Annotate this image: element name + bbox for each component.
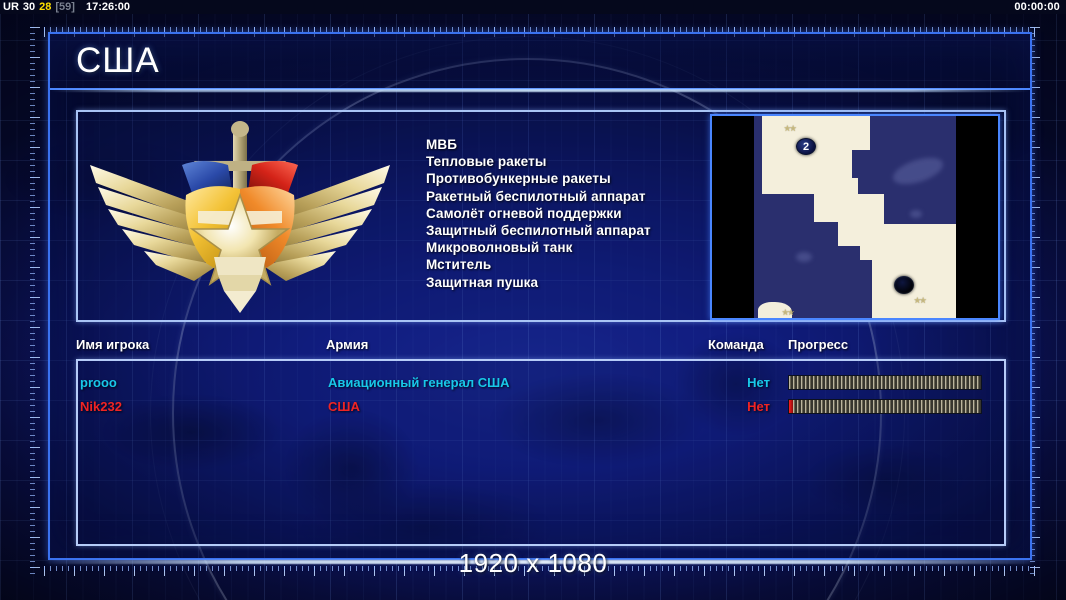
status-value-2: 28	[39, 1, 51, 13]
player-team: Нет	[710, 375, 788, 390]
player-army: США	[328, 399, 710, 414]
progress-fill	[789, 376, 981, 389]
player-army: Авиационный генерал США	[328, 375, 710, 390]
players-list-panel: prooo Авиационный генерал США Нет Nik232…	[76, 359, 1006, 546]
unit-item: Тепловые ракеты	[426, 153, 726, 170]
resolution-label: 1920 x 1080	[0, 548, 1066, 579]
unit-item: МВБ	[426, 136, 726, 153]
tail-feathers-shape	[214, 257, 266, 313]
status-right-clock: 00:00:00	[1014, 1, 1066, 13]
unit-item: Микроволновый танк	[426, 239, 726, 256]
minimap-start-position-2[interactable]: 2	[796, 138, 816, 155]
unit-item: Мститель	[426, 256, 726, 273]
star-marker-icon-3: ✯✯	[782, 308, 793, 317]
column-header-progress: Прогресс	[788, 337, 998, 359]
status-label: UR	[3, 1, 19, 13]
player-name: Nik232	[78, 399, 328, 414]
star-marker-icon-2: ✯✯	[914, 296, 925, 305]
usa-air-force-general-emblem-icon	[82, 113, 398, 317]
faction-info-panel: МВБ Тепловые ракеты Противобункерные рак…	[76, 110, 1006, 322]
page-title: США	[76, 41, 160, 81]
player-progress	[788, 399, 988, 414]
title-bar: США	[50, 34, 1030, 90]
main-panel: США	[48, 32, 1032, 560]
column-header-army: Армия	[326, 337, 708, 359]
faction-emblem	[82, 113, 398, 317]
status-bar-left: UR 30 28 [59] 17:26:00	[0, 1, 130, 13]
unit-item: Ракетный беспилотный аппарат	[426, 188, 726, 205]
column-header-name: Имя игрока	[76, 337, 326, 359]
faction-unit-list: МВБ Тепловые ракеты Противобункерные рак…	[426, 136, 726, 291]
unit-item: Защитный беспилотный аппарат	[426, 222, 726, 239]
table-row[interactable]: prooo Авиационный генерал США Нет	[78, 370, 1004, 394]
progress-tip	[789, 400, 793, 413]
game-lobby-screen: UR 30 28 [59] 17:26:00 00:00:00 США	[0, 0, 1066, 600]
unit-item: Самолёт огневой поддержки	[426, 205, 726, 222]
player-name: prooo	[78, 375, 328, 390]
progress-fill	[789, 400, 981, 413]
minimap-start-position-1[interactable]	[894, 276, 914, 294]
minimap[interactable]: ✯✯ ✯✯ ✯✯ 2	[710, 114, 1000, 320]
progress-bar	[788, 375, 982, 390]
star-marker-icon: ✯✯	[784, 124, 795, 133]
player-progress	[788, 375, 988, 390]
player-team: Нет	[710, 399, 788, 414]
unit-item: Противобункерные ракеты	[426, 170, 726, 187]
progress-bar	[788, 399, 982, 414]
unit-item: Защитная пушка	[426, 274, 726, 291]
status-value-1: 30	[23, 1, 35, 13]
column-header-team: Команда	[708, 337, 788, 359]
table-row[interactable]: Nik232 США Нет	[78, 394, 1004, 418]
status-bar: UR 30 28 [59] 17:26:00 00:00:00	[0, 0, 1066, 14]
players-table-header: Имя игрока Армия Команда Прогресс	[76, 337, 1006, 359]
status-clock: 17:26:00	[86, 1, 130, 13]
minimap-terrain: ✯✯ ✯✯ ✯✯ 2	[754, 116, 956, 318]
status-value-3: [59]	[55, 1, 75, 13]
